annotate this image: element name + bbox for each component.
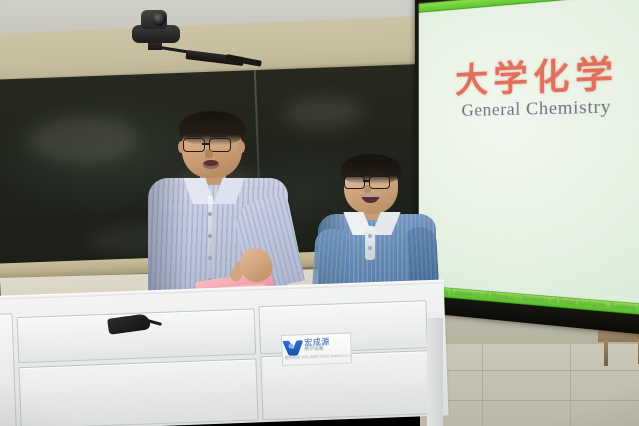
podium-right-edge [427,318,443,426]
podium [0,284,449,426]
glasses-icon [369,176,390,189]
camera-lens-icon [152,12,166,26]
mouth-open-speaking [203,160,219,169]
brand-name-sub: 教学设备 [304,345,323,352]
ceiling-camera [126,6,188,52]
speaker-left [148,108,288,308]
lecture-hall-photo: 大学化学 General Chemistry State Key Laborat… [0,0,639,426]
glasses-icon [344,176,365,189]
podium-brand-plate: 宏成源 教学设备 服务热线 400-888-0000 www.hcy-edu.c… [281,332,352,366]
brand-contact-line: 服务热线 400-888-0000 www.hcy-edu.com [285,354,348,361]
projection-screen: 大学化学 General Chemistry State Key Laborat… [415,0,639,337]
glasses-icon [183,138,205,152]
